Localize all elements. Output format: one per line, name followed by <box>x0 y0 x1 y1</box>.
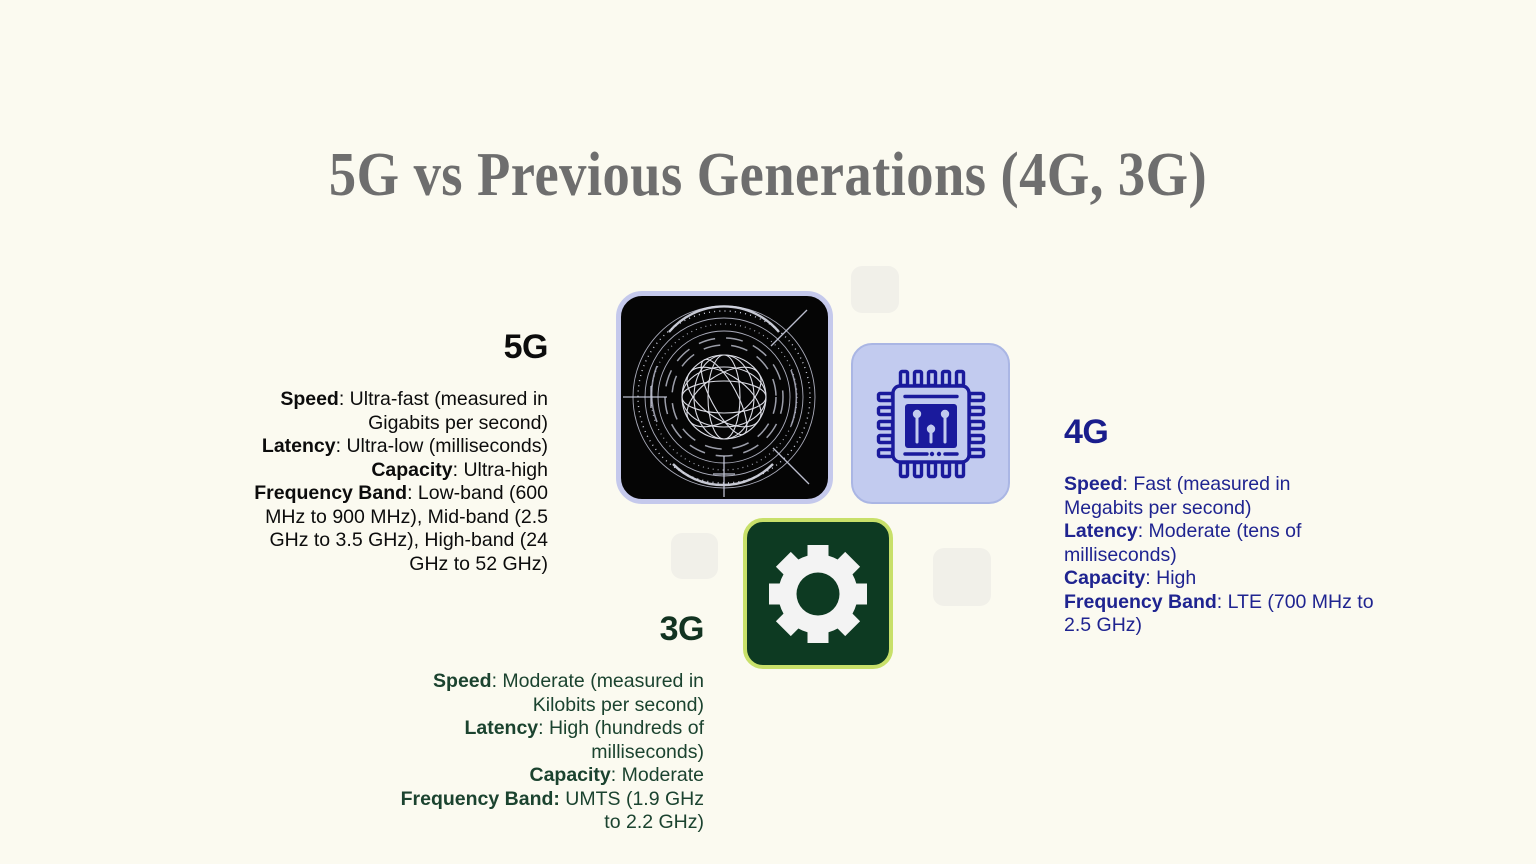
spec-value: : Moderate (measured in Kilobits per sec… <box>492 670 704 716</box>
spec-label: Capacity <box>1064 567 1145 589</box>
generation-heading-3g: 3G <box>392 612 704 646</box>
spec-label: Frequency Band <box>1064 591 1217 613</box>
generation-specs-5g: Speed: Ultra-fast (measured in Gigabits … <box>236 388 548 576</box>
generation-heading-4g: 4G <box>1064 415 1374 449</box>
spec-value: : High (hundreds of milliseconds) <box>538 717 704 763</box>
generation-block-4g: 4G Speed: Fast (measured in Megabits per… <box>1064 415 1374 638</box>
spec-value: : Ultra-high <box>453 459 548 481</box>
spec-label: Frequency Band <box>254 482 407 504</box>
generation-specs-3g: Speed: Moderate (measured in Kilobits pe… <box>392 670 704 835</box>
spec-label: Latency <box>262 435 336 457</box>
gear-icon-tile <box>743 518 893 669</box>
generation-heading-5g: 5G <box>236 330 548 364</box>
cpu-chip-icon <box>875 368 987 480</box>
network-globe-icon <box>621 296 828 499</box>
generation-specs-4g: Speed: Fast (measured in Megabits per se… <box>1064 473 1374 638</box>
spec-label: Frequency Band: <box>401 788 560 810</box>
slide-canvas: 5G vs Previous Generations (4G, 3G) <box>0 0 1536 864</box>
spec-value: : Ultra-fast (measured in Gigabits per s… <box>339 388 548 434</box>
decorative-square-right <box>933 548 991 606</box>
spec-label: Speed <box>1064 473 1123 495</box>
page-title: 5G vs Previous Generations (4G, 3G) <box>92 143 1444 208</box>
spec-label: Capacity <box>529 764 610 786</box>
gear-icon <box>766 542 870 646</box>
spec-value: UMTS (1.9 GHz to 2.2 GHz) <box>560 788 704 834</box>
spec-value: : Moderate <box>611 764 704 786</box>
spec-label: Latency <box>1064 520 1138 542</box>
spec-label: Capacity <box>371 459 452 481</box>
generation-block-3g: 3G Speed: Moderate (measured in Kilobits… <box>392 612 704 835</box>
spec-label: Latency <box>464 717 538 739</box>
spec-label: Speed <box>433 670 492 692</box>
network-globe-icon-tile <box>616 291 833 504</box>
cpu-chip-icon-tile <box>851 343 1010 504</box>
spec-label: Speed <box>280 388 339 410</box>
spec-value: : Ultra-low (milliseconds) <box>336 435 548 457</box>
decorative-square-left <box>671 533 718 579</box>
generation-block-5g: 5G Speed: Ultra-fast (measured in Gigabi… <box>236 330 548 576</box>
spec-value: : High <box>1145 567 1196 589</box>
decorative-square-top <box>851 266 899 313</box>
